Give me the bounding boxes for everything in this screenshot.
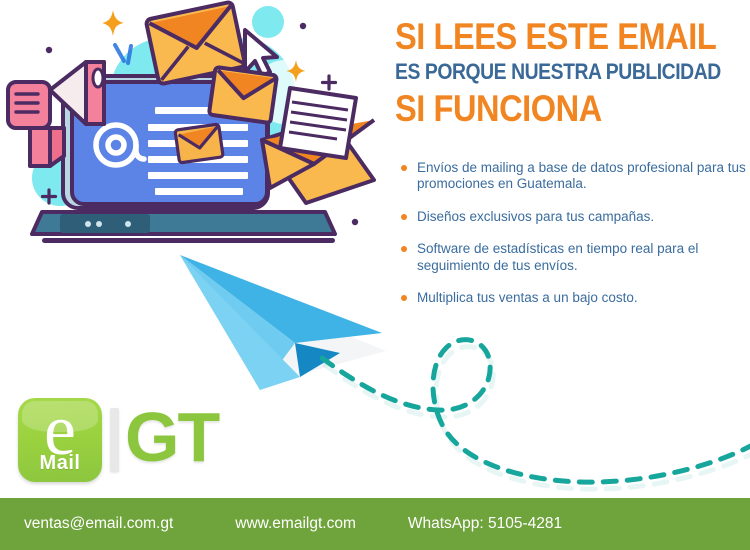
headline-line-3: SI FUNCIONA: [395, 90, 703, 127]
bullet-dot-icon: [401, 165, 407, 171]
bullet-dot-icon: [401, 295, 407, 301]
bullet-text: Software de estadísticas en tiempo real …: [417, 241, 698, 272]
logo-word-mail: Mail: [18, 452, 102, 475]
headline-block: SI LEES ESTE EMAIL ES PORQUE NUESTRA PUB…: [395, 18, 745, 127]
footer-whatsapp[interactable]: WhatsApp: 5105-4281: [408, 515, 562, 533]
document-icon: [280, 88, 356, 158]
bullet-item: Envíos de mailing a base de datos profes…: [400, 160, 750, 193]
bullet-item: Multiplica tus ventas a un bajo costo.: [400, 290, 750, 306]
screen-envelope-icon: [175, 124, 223, 163]
dashed-flight-trail: [320, 320, 750, 510]
bullet-dot-icon: [401, 214, 407, 220]
bullet-text: Diseños exclusivos para tus campañas.: [417, 209, 654, 224]
right-envelope-icon: [209, 67, 277, 123]
logo-separator-bar: [110, 408, 119, 472]
contact-footer-bar: ventas@email.com.gt www.emailgt.com What…: [0, 498, 750, 550]
email-marketing-illustration: [0, 0, 390, 250]
bullet-item: Software de estadísticas en tiempo real …: [400, 241, 750, 274]
footer-email[interactable]: ventas@email.com.gt: [24, 515, 173, 533]
feature-bullet-list: Envíos de mailing a base de datos profes…: [400, 160, 750, 307]
logo-badge: e Mail: [18, 398, 102, 482]
email-marketing-banner: SI LEES ESTE EMAIL ES PORQUE NUESTRA PUB…: [0, 0, 750, 550]
headline-line-2: ES PORQUE NUESTRA PUBLICIDAD: [395, 61, 703, 83]
logo-suffix-gt: GT: [125, 402, 218, 472]
bullet-item: Diseños exclusivos para tus campañas.: [400, 209, 750, 225]
bullet-text: Multiplica tus ventas a un bajo costo.: [417, 290, 638, 305]
emailgt-logo[interactable]: e Mail GT: [18, 398, 218, 482]
footer-website[interactable]: www.emailgt.com: [235, 515, 356, 533]
bullet-text: Envíos de mailing a base de datos profes…: [417, 160, 746, 191]
bullet-dot-icon: [401, 246, 407, 252]
headline-line-1: SI LEES ESTE EMAIL: [395, 18, 703, 55]
